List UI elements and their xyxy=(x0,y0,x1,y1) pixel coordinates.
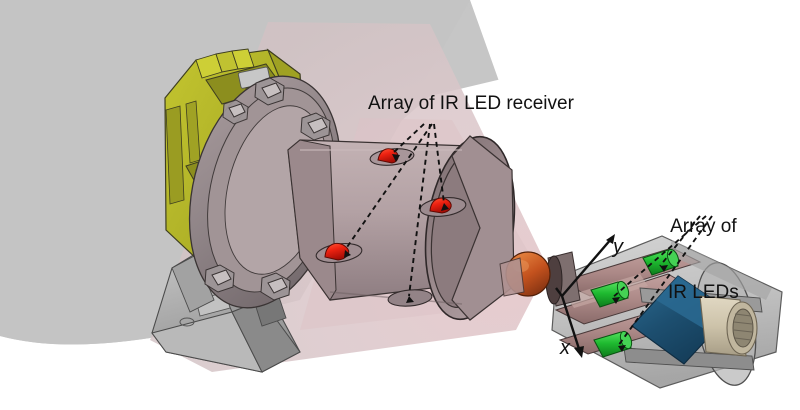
led-array-label: Array of IR LEDs xyxy=(668,172,739,348)
receiver-array-label: Array of IR LED receiver xyxy=(368,93,574,115)
led-array-label-line1: Array of xyxy=(668,216,739,238)
figure-canvas: Array of IR LED receiver Array of IR LED… xyxy=(0,0,800,410)
axis-label-x: x xyxy=(560,337,570,360)
axis-label-y: y xyxy=(613,236,623,259)
led-array-label-line2: IR LEDs xyxy=(668,282,739,304)
